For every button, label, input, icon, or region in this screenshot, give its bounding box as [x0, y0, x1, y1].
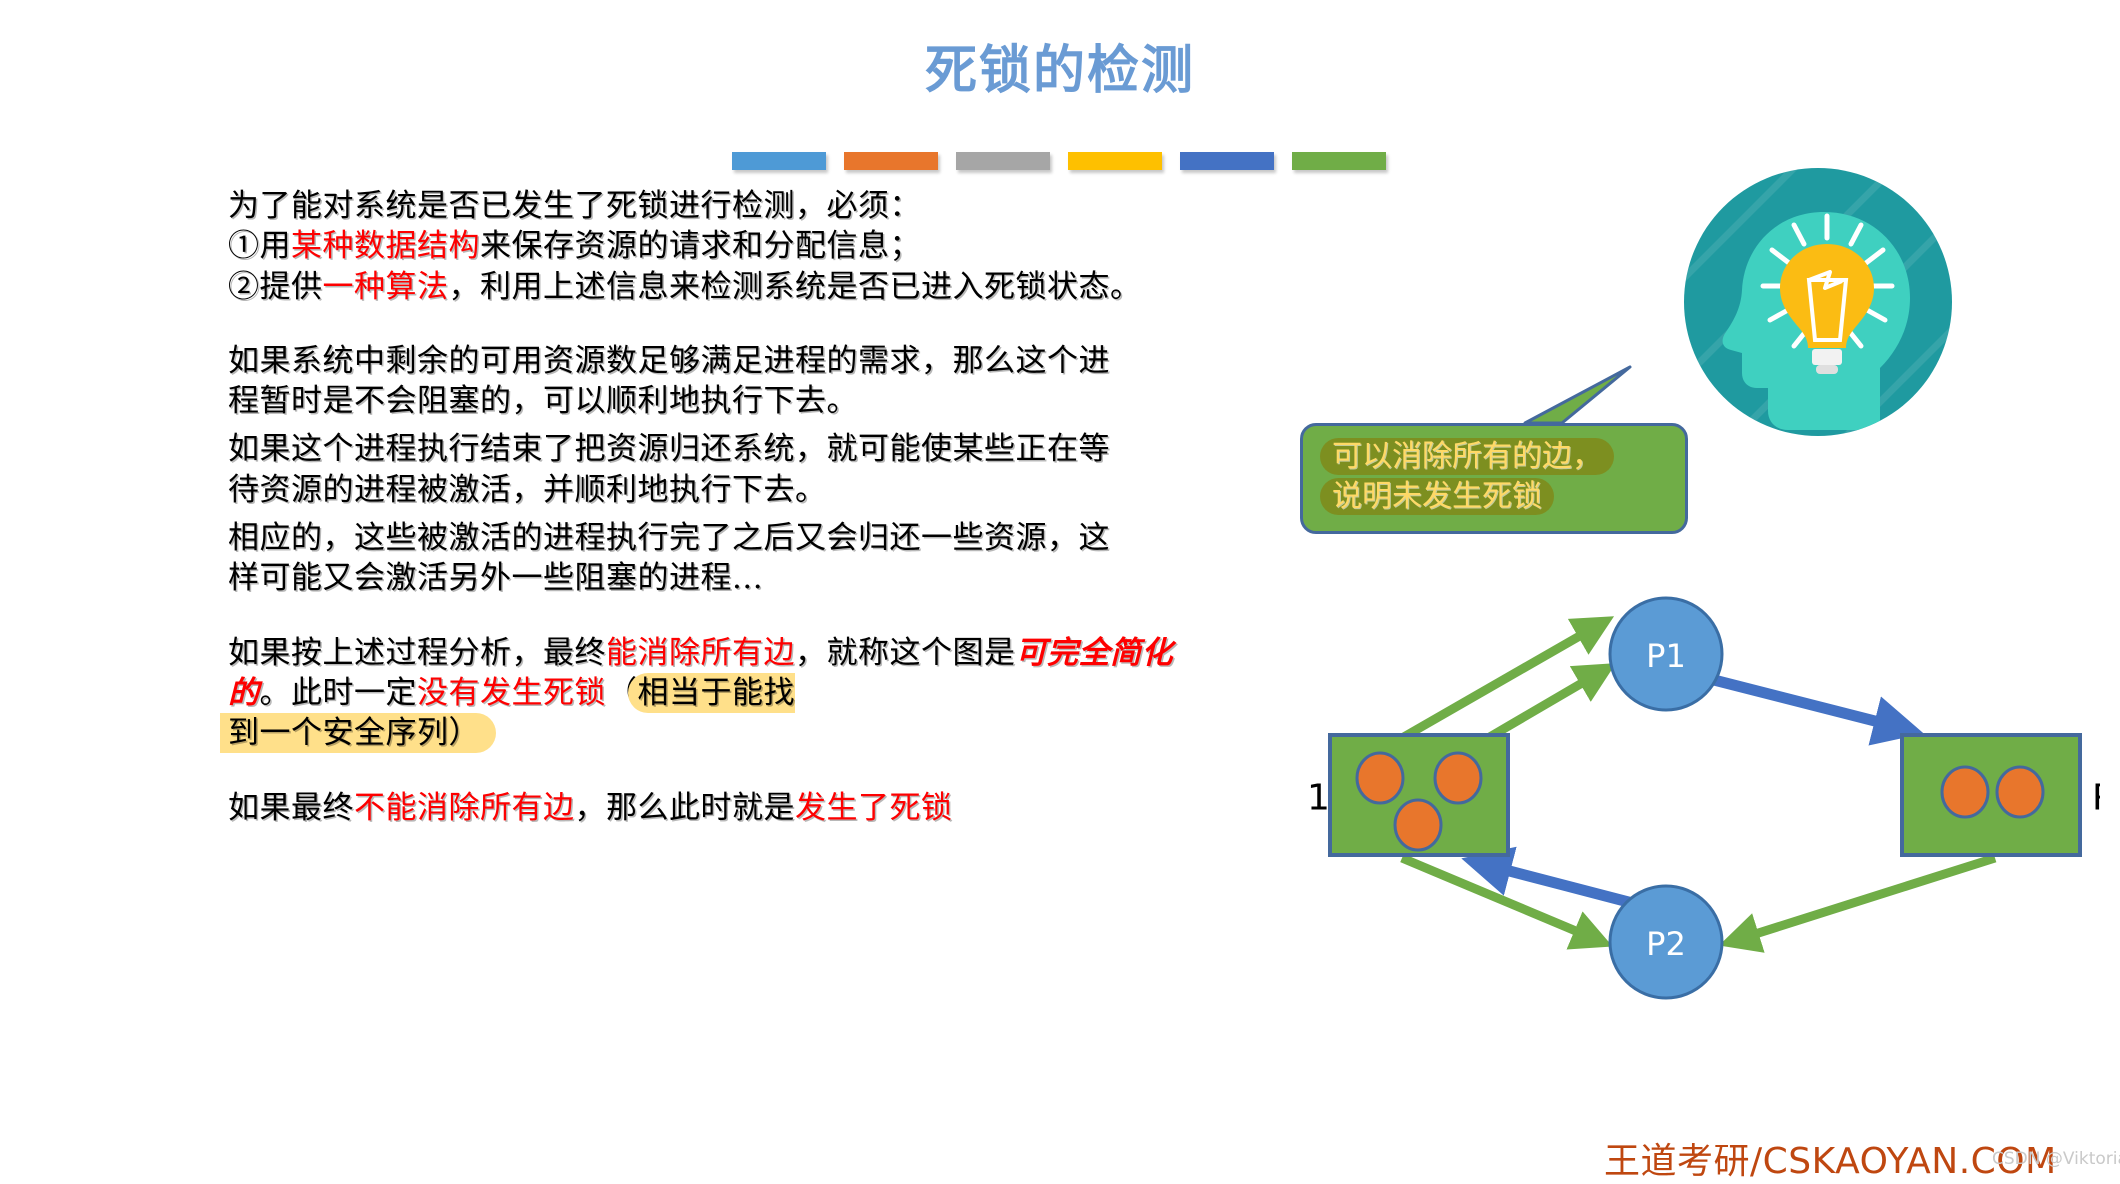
intro-line-3-prefix: ②提供: [228, 269, 323, 305]
callout-line-1: 可以消除所有的边，: [1320, 437, 1660, 477]
resource-allocation-graph: R1 R2 P1 P2: [1310, 570, 2100, 1020]
intro-line-3-suffix: ，利用上述信息来检测系统是否已进入死锁状态。: [449, 269, 1142, 305]
bar-orange: [844, 152, 938, 170]
intro-line-2-prefix: ①用: [228, 228, 291, 264]
intro-line-2: ①用某种数据结构来保存资源的请求和分配信息；: [228, 226, 1248, 266]
bar-yellow: [1068, 152, 1162, 170]
color-bar-strip: [732, 152, 1386, 170]
callout-line-2: 说明未发生死锁: [1320, 477, 1660, 517]
bar-darkblue: [1180, 152, 1274, 170]
edge-p1-r2: [1714, 680, 1910, 730]
process-node-p2: P2: [1610, 886, 1722, 998]
bar-green: [1292, 152, 1386, 170]
resource-node-r2: [1902, 735, 2080, 855]
spacer-5: [228, 754, 1248, 788]
watermark-label: CSDN @Viktoriae: [1992, 1149, 2120, 1169]
paragraph-reducible-graph: 如果按上述过程分析，最终能消除所有边，就称这个图是可完全简化的。此时一定没有发生…: [228, 633, 1188, 754]
speech-callout: 可以消除所有的边， 说明未发生死锁: [1300, 423, 1688, 534]
paragraph-deadlock-occurred: 如果最终不能消除所有边，那么此时就是发生了死锁: [228, 788, 1248, 828]
p6-red-deadlock-happened: 发生了死锁: [795, 790, 953, 826]
resource-label-r1: R1: [1310, 778, 1330, 819]
spacer-2: [228, 421, 1248, 429]
p6-red-cannot-remove: 不能消除所有边: [354, 790, 575, 826]
intro-line-2-suffix: 来保存资源的请求和分配信息；: [480, 228, 921, 264]
body-text-column: 为了能对系统是否已发生了死锁进行检测，必须： ①用某种数据结构来保存资源的请求和…: [228, 186, 1248, 828]
spacer-3: [228, 510, 1248, 518]
p5-part-a: 如果按上述过程分析，最终: [228, 635, 606, 671]
p5-part-b: ，就称这个图是: [795, 635, 1016, 671]
resource-node-r1: [1330, 735, 1508, 855]
p6-part-b: ，那么此时就是: [575, 790, 796, 826]
process-label-p1: P1: [1646, 637, 1686, 675]
p5-highlight-part-1: 相当于能找: [628, 673, 796, 713]
intro-line-3: ②提供一种算法，利用上述信息来检测系统是否已进入死锁状态。: [228, 267, 1248, 307]
intro-line-2-red: 某种数据结构: [291, 228, 480, 264]
head-lightbulb-icon: [1684, 168, 1952, 436]
p5-red-remove-all-edges: 能消除所有边: [606, 635, 795, 671]
p5-red-no-deadlock: 没有发生死锁: [417, 675, 606, 711]
paragraph-release-resources: 如果这个进程执行结束了把资源归还系统，就可能使某些正在等待资源的进程被激活，并顺…: [228, 429, 1133, 510]
edge-r1-p1-a: [1402, 622, 1604, 738]
paragraph-cascade-activation: 相应的，这些被激活的进程执行完了之后又会归还一些资源，这样可能又会激活另外一些阻…: [228, 518, 1133, 599]
brand-footer: 王道考研/CSKAOYAN.COM: [1604, 1132, 2057, 1184]
callout-text: 可以消除所有的边， 说明未发生死锁: [1320, 437, 1660, 516]
bar-blue: [732, 152, 826, 170]
process-label-p2: P2: [1646, 925, 1686, 963]
paragraph-intro: 为了能对系统是否已发生了死锁进行检测，必须： ①用某种数据结构来保存资源的请求和…: [228, 186, 1248, 307]
intro-line-1: 为了能对系统是否已发生了死锁进行检测，必须：: [228, 186, 1248, 226]
spacer-1: [228, 307, 1248, 341]
process-node-p1: P1: [1610, 598, 1722, 710]
p6-part-a: 如果最终: [228, 790, 354, 826]
intro-line-3-red: 一种算法: [323, 269, 449, 305]
paragraph-available-resources: 如果系统中剩余的可用资源数足够满足进程的需求，那么这个进程暂时是不会阻塞的，可以…: [228, 341, 1133, 422]
p5-part-c: 。此时一定: [260, 675, 418, 711]
edge-r2-p2: [1730, 858, 1995, 942]
p5-highlight-part-2: 到一个安全序列）: [220, 713, 496, 753]
slide-root: 死锁的检测 为了能对系统是否已发生了死锁进行检测，必须： ①用某种数据结构来保存…: [0, 0, 2120, 1184]
bar-gray: [956, 152, 1050, 170]
page-title: 死锁的检测: [0, 42, 2120, 99]
resource-label-r2: R2: [2092, 778, 2100, 819]
spacer-4: [228, 599, 1248, 633]
